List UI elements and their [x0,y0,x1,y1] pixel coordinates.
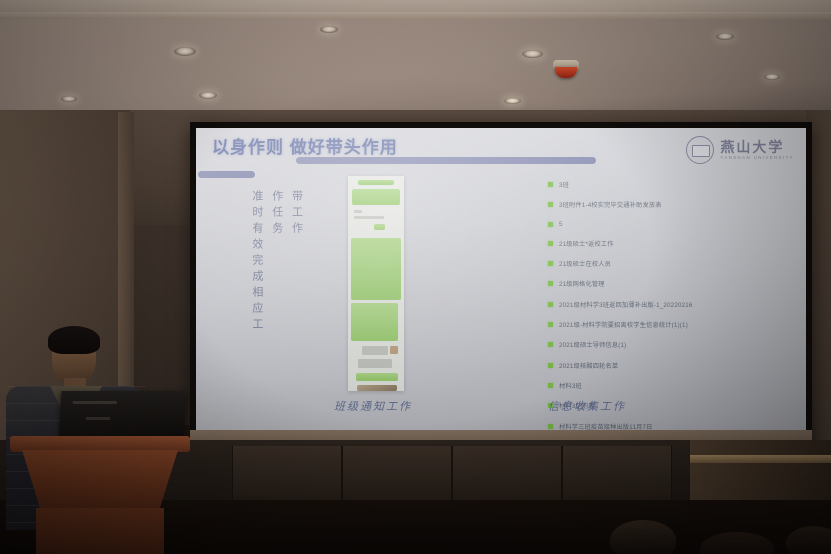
vertical-text-col-0: 带工作 [289,190,304,385]
fire-alarm-icon [553,60,579,80]
list-item-label: 3班 [559,180,569,189]
recessed-downlight-icon [174,47,196,56]
list-item: 2021级硕士导师信息(1) [548,340,763,349]
list-item: 2021级材料学3班返回加薄补出版-1_20220216 [548,300,763,309]
list-item: 5 [548,221,763,228]
bullet-square-icon [548,222,553,227]
podium-base [36,508,164,554]
list-item-label: 2021级硕士导师信息(1) [559,340,626,349]
audience-head [610,520,676,554]
bullet-square-icon [548,363,553,368]
list-item-label: 3班附件1-4校实完毕交通补助发放表 [559,200,662,209]
projection-screen: 以身作则 做好带头作用 燕山大学 YANSHAN UNIVERSITY 带工作 … [196,128,806,454]
title-accent-bar-short [198,171,255,178]
fire-alarm-strobe [555,67,577,78]
laptop-screen-text [86,417,110,420]
wall-panel [342,446,452,502]
logo-english-name: YANSHAN UNIVERSITY [720,156,794,160]
university-crest-icon [686,136,714,164]
logo-chinese-name: 燕山大学 [720,140,794,154]
list-item: 21级硕士*返校工作 [548,239,763,248]
podium-body [22,450,178,510]
lecture-hall-photo: 以身作则 做好带头作用 燕山大学 YANSHAN UNIVERSITY 带工作 … [0,0,831,554]
list-item: 21级硕士在校人员 [548,259,763,268]
bullet-square-icon [548,281,553,286]
list-item-label: 材料3班 [559,381,582,390]
list-item: 3班 [548,180,763,189]
bullet-square-icon [548,241,553,246]
wall-panel [232,446,342,502]
ceiling [0,0,831,118]
laptop-screen-text [73,401,117,404]
wall-trim-rail [690,455,831,463]
bullet-square-icon [548,424,553,429]
recessed-downlight-icon [61,96,77,102]
university-logo: 燕山大学 YANSHAN UNIVERSITY [686,136,794,164]
list-item: 材料3班 [548,381,763,390]
bullet-square-icon [548,342,553,347]
recessed-downlight-icon [199,92,217,99]
left-caption: 班级通知工作 [334,398,412,414]
right-caption: 信息收集工作 [548,398,626,414]
list-item: 2021级-材料学院要招离校学生信息统计(1)(1) [548,320,763,329]
wall-panel [452,446,562,502]
bullet-square-icon [548,302,553,307]
bullet-square-icon [548,383,553,388]
wechat-screenshot-image [348,176,404,391]
recessed-downlight-icon [716,33,734,40]
recessed-downlight-icon [504,98,521,104]
list-item-label: 21级硕士在校人员 [559,259,611,268]
podium-top [10,436,190,452]
presentation-slide: 以身作则 做好带头作用 燕山大学 YANSHAN UNIVERSITY 带工作 … [196,128,806,454]
bullet-square-icon [548,182,553,187]
bullet-square-icon [548,322,553,327]
list-item-label: 21级硕士*返校工作 [559,239,614,248]
list-item: 2021级核酸四轮名单 [548,361,763,370]
vertical-text-col-2: 准时有效完成相应工 [249,190,264,385]
list-item: 3班附件1-4校实完毕交通补助发放表 [548,200,763,209]
title-accent-bar-long [296,157,596,164]
bullet-square-icon [548,202,553,207]
bullet-square-icon [548,261,553,266]
list-item: 21级网格化管理 [548,279,763,288]
vertical-text-block: 带工作 作任务 准时有效完成相应工 [244,190,304,385]
list-item-label: 2021级-材料学院要招离校学生信息统计(1)(1) [559,320,688,329]
list-item-label: 5 [559,221,563,228]
list-item-label: 2021级材料学3班返回加薄补出版-1_20220216 [559,300,693,309]
ceiling-seam [0,12,831,19]
recessed-downlight-icon [522,50,543,58]
slide-title: 以身作则 做好带头作用 [212,133,398,158]
list-item-label: 2021级核酸四轮名单 [559,361,618,370]
wall-panel [562,446,672,502]
list-item-label: 21级网格化管理 [559,279,605,288]
recessed-downlight-icon [764,74,780,80]
vertical-text-col-1: 作任务 [269,190,284,385]
recessed-downlight-icon [320,26,338,33]
presenter-hair [48,326,100,354]
audience-head [786,526,831,554]
